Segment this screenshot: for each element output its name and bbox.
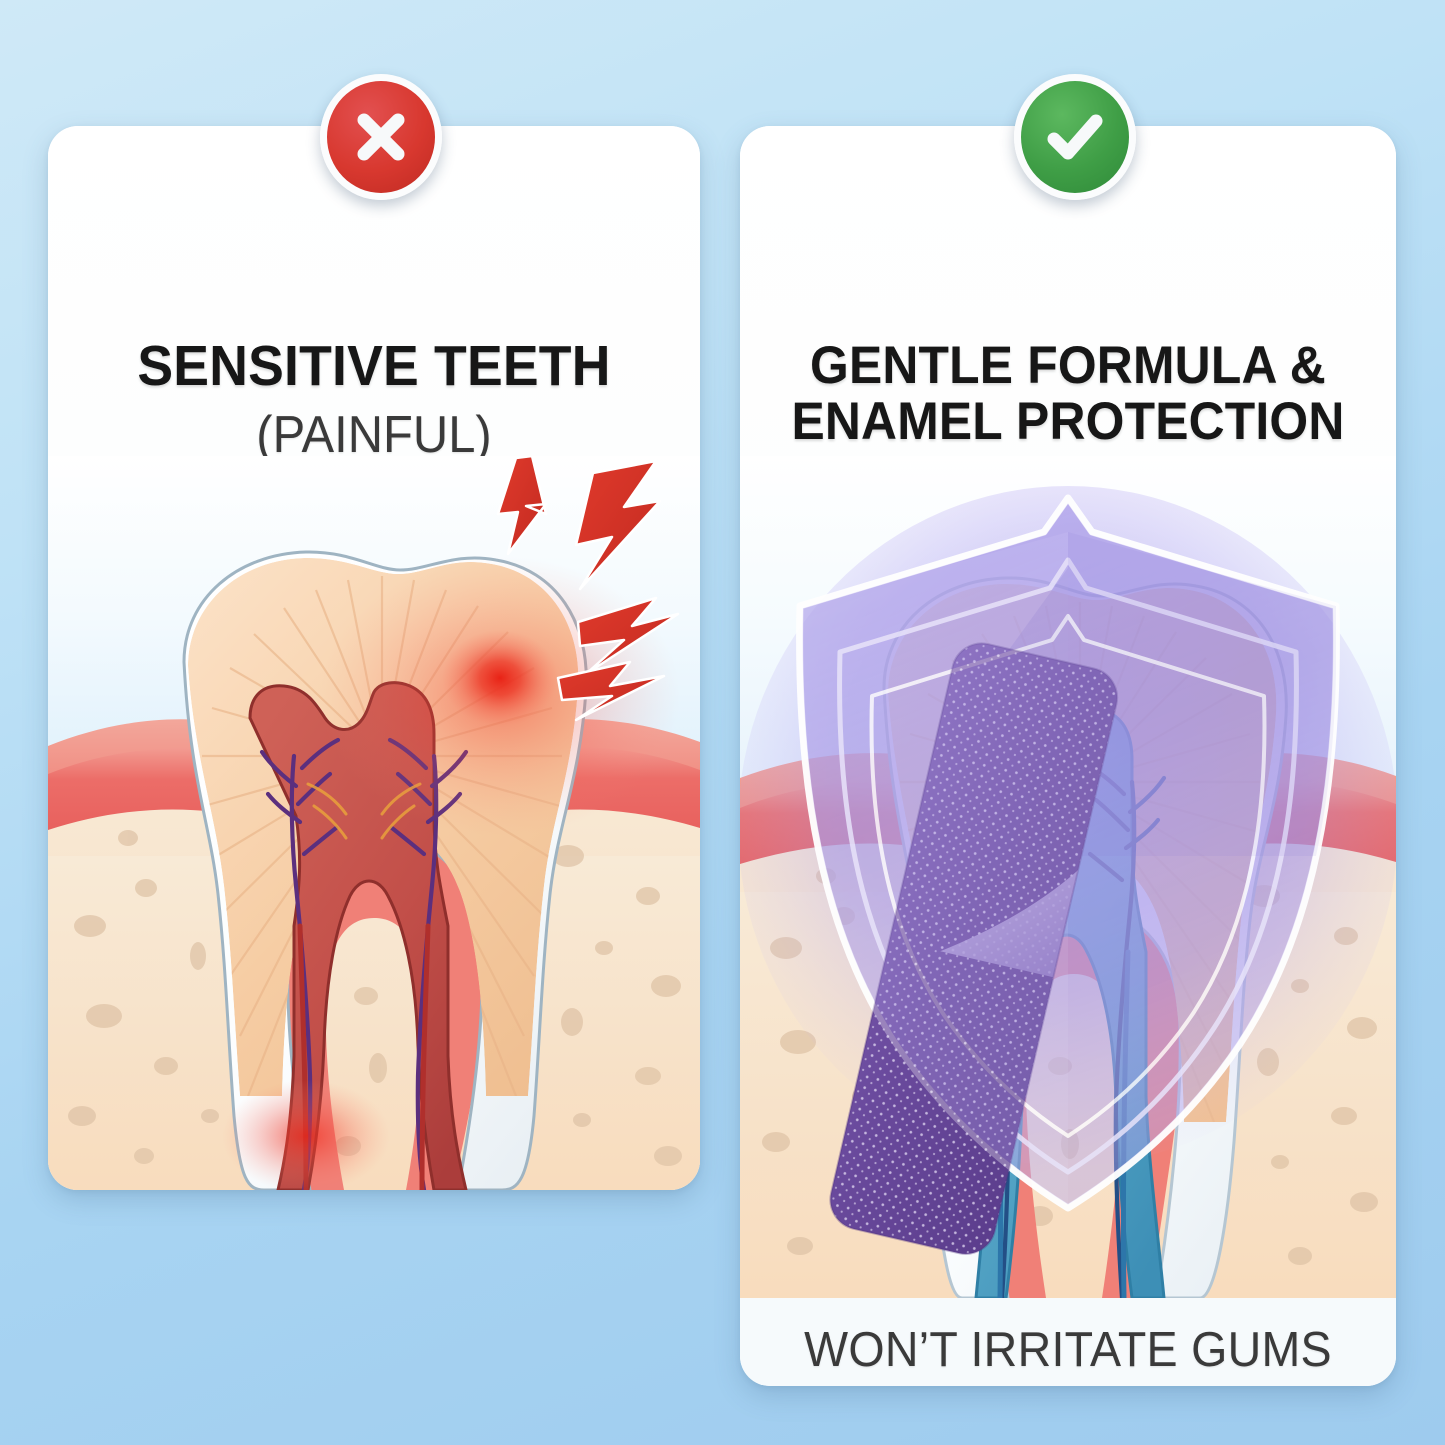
right-card-title-line2: ENAMEL PROTECTION	[760, 394, 1377, 450]
card-sensitive-teeth: SENSITIVE TEETH (PAINFUL)	[48, 126, 700, 1190]
card-left-inner: SENSITIVE TEETH (PAINFUL)	[48, 126, 700, 1190]
painful-tooth-svg	[48, 456, 700, 1190]
pain-hotspot	[442, 630, 558, 726]
check-icon	[1042, 104, 1108, 170]
left-card-subtitle: (PAINFUL)	[68, 408, 681, 463]
right-card-title-line1: GENTLE FORMULA &	[760, 338, 1377, 394]
check-badge	[1014, 74, 1136, 200]
card-right-inner: GENTLE FORMULA & ENAMEL PROTECTION (COMF…	[740, 126, 1396, 1386]
right-card-caption: WON’T IRRITATE GUMS OR CAUSE DISCOMFORT.	[775, 1321, 1360, 1386]
card-gentle-formula: GENTLE FORMULA & ENAMEL PROTECTION (COMF…	[740, 126, 1396, 1386]
pain-glow-root	[222, 1080, 390, 1190]
right-card-caption-line2: OR CAUSE DISCOMFORT.	[775, 1380, 1360, 1386]
left-card-title: SENSITIVE TEETH	[68, 336, 681, 396]
protected-tooth-svg	[740, 456, 1396, 1298]
right-card-title: GENTLE FORMULA & ENAMEL PROTECTION	[760, 338, 1377, 450]
cross-badge	[320, 74, 442, 200]
cross-icon	[350, 106, 412, 168]
comparison-graphic: SENSITIVE TEETH (PAINFUL)	[0, 0, 1445, 1445]
protected-tooth-illustration	[740, 456, 1396, 1298]
painful-tooth-illustration	[48, 456, 700, 1190]
right-card-caption-line1: WON’T IRRITATE GUMS	[775, 1321, 1360, 1380]
